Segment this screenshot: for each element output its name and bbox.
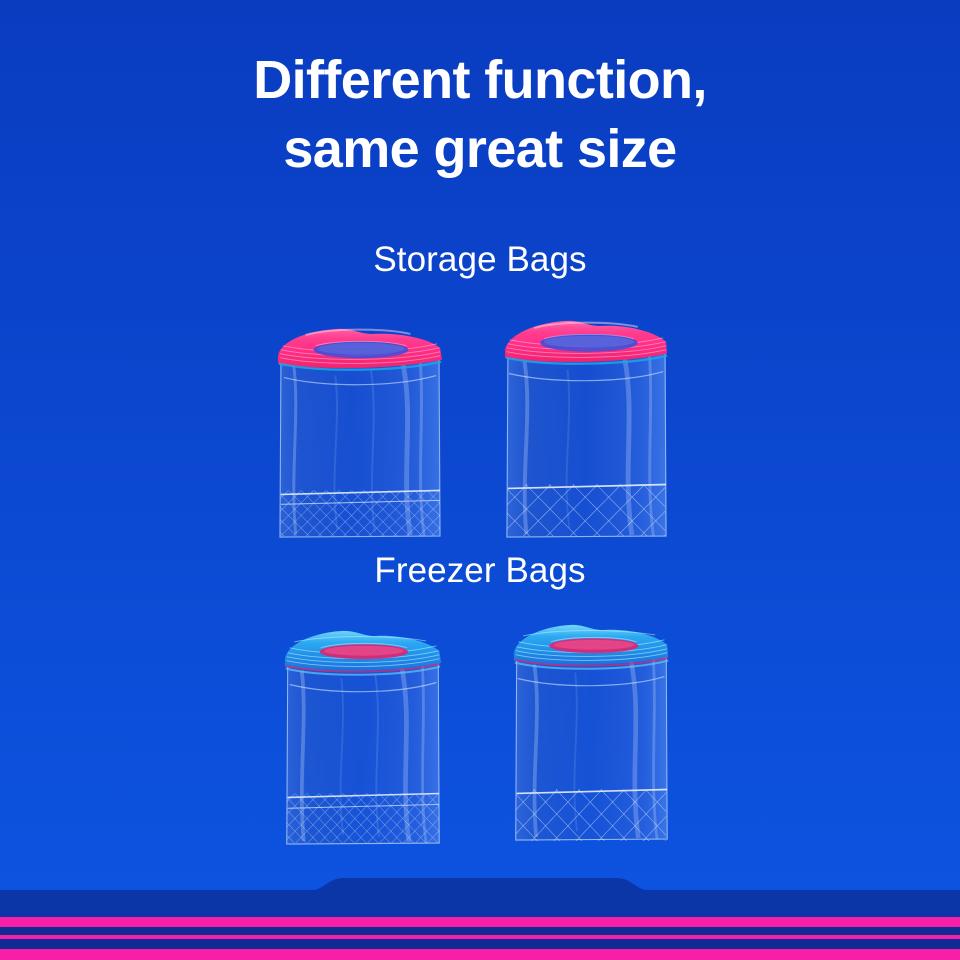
footer-stripe-primary bbox=[0, 917, 960, 927]
storage-bags-row bbox=[0, 312, 960, 542]
section-label-storage: Storage Bags bbox=[0, 240, 960, 280]
page-title-line-2: same great size bbox=[0, 115, 960, 184]
storage-bag-right bbox=[503, 318, 669, 540]
page-title: Different function, same great size bbox=[0, 46, 960, 184]
freezer-bag-left bbox=[283, 629, 443, 847]
freezer-bags-row bbox=[0, 617, 960, 847]
storage-bag-left bbox=[276, 326, 444, 540]
page-title-line-1: Different function, bbox=[0, 46, 960, 115]
footer-stripe-divider-1 bbox=[0, 927, 960, 935]
footer-stripe-secondary bbox=[0, 935, 960, 939]
footer-stripe-bottom bbox=[0, 949, 960, 960]
footer-brand-bar bbox=[0, 878, 960, 960]
section-label-freezer: Freezer Bags bbox=[0, 551, 960, 591]
footer-stripe-divider-2 bbox=[0, 939, 960, 949]
freezer-bag-right bbox=[512, 623, 670, 843]
